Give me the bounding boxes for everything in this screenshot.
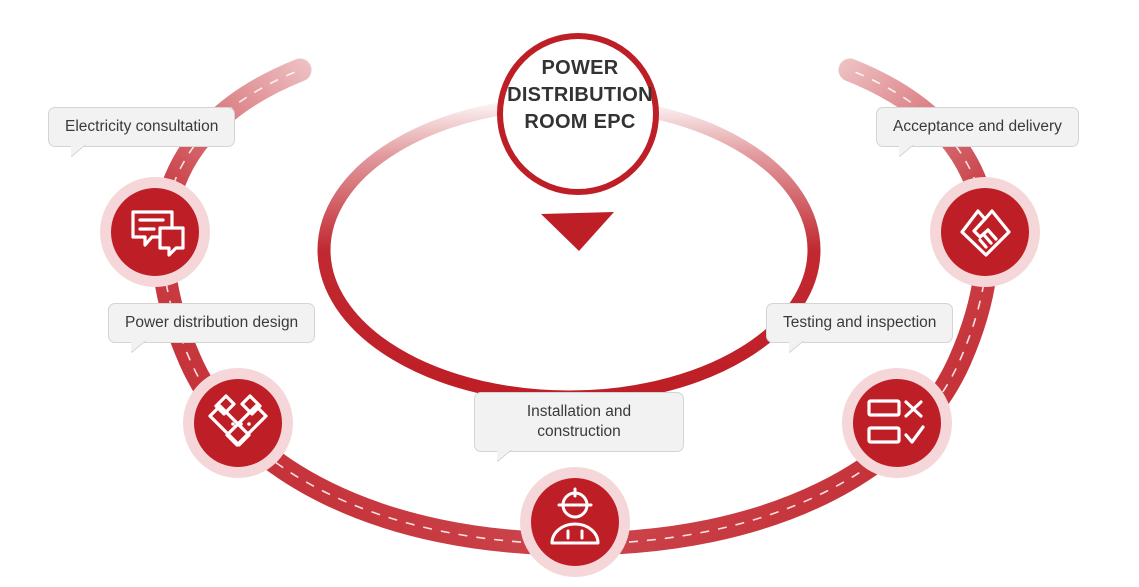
step-label-text: Acceptance and delivery (893, 118, 1062, 135)
step-label-electricity-consultation[interactable]: Electricity consultation (48, 107, 235, 147)
step-label-installation-and-construction[interactable]: Installation and construction (474, 392, 684, 452)
diagram-canvas: POWER DISTRIBUTION ROOM EPC Electricity … (0, 0, 1139, 587)
callout-tail (131, 341, 149, 356)
step-label-text-line-2: construction (493, 422, 665, 442)
step-label-text: Electricity consultation (65, 118, 218, 135)
callout-tail (71, 145, 89, 160)
step-node-2[interactable] (183, 368, 293, 478)
step-label-text: Testing and inspection (783, 314, 936, 331)
step-node-4[interactable] (842, 368, 952, 478)
step-node-5[interactable] (930, 177, 1040, 287)
callout-tail (899, 145, 917, 160)
map-pin-icon (500, 36, 656, 251)
callout-tail (789, 341, 807, 356)
step-label-testing-and-inspection[interactable]: Testing and inspection (766, 303, 953, 343)
process-cycle-graphic (0, 0, 1139, 587)
step-label-acceptance-and-delivery[interactable]: Acceptance and delivery (876, 107, 1079, 147)
step-label-text-line-1: Installation and (493, 402, 665, 422)
callout-tail (497, 450, 515, 465)
step-node-1[interactable] (100, 177, 210, 287)
step-label-text: Power distribution design (125, 314, 298, 331)
step-label-power-distribution-design[interactable]: Power distribution design (108, 303, 315, 343)
step-node-3[interactable] (520, 467, 630, 577)
